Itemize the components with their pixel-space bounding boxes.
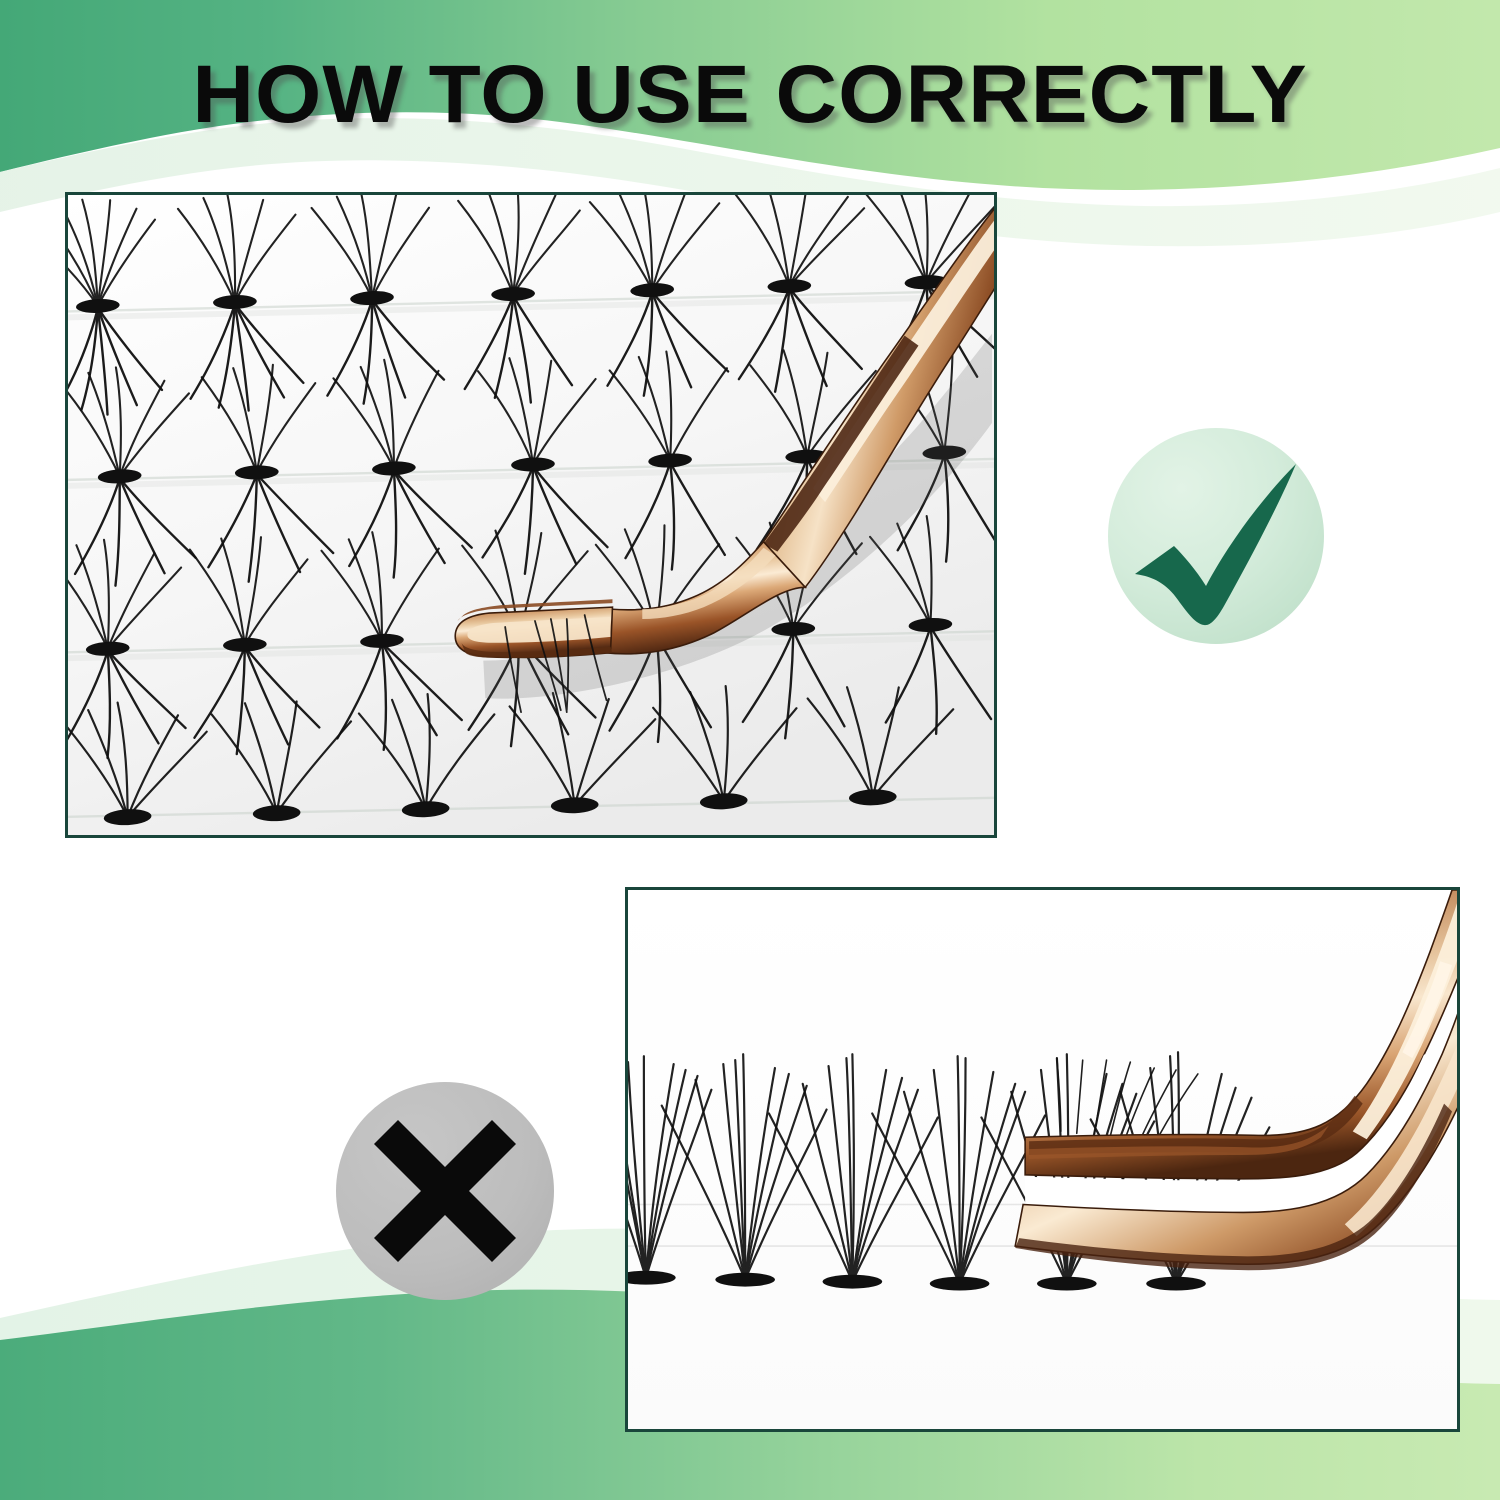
page-title: HOW TO USE CORRECTLY [0,48,1500,142]
infographic-canvas: HOW TO USE CORRECTLY [0,0,1500,1500]
incorrect-usage-photo [625,887,1460,1432]
check-badge [1108,428,1324,644]
cross-icon [336,1082,554,1300]
cross-badge [336,1082,554,1300]
lash-clusters-side-view-illustration [628,890,1457,1429]
check-icon [1108,428,1324,644]
lash-tray-top-view-illustration [68,195,994,835]
correct-usage-photo [65,192,997,838]
